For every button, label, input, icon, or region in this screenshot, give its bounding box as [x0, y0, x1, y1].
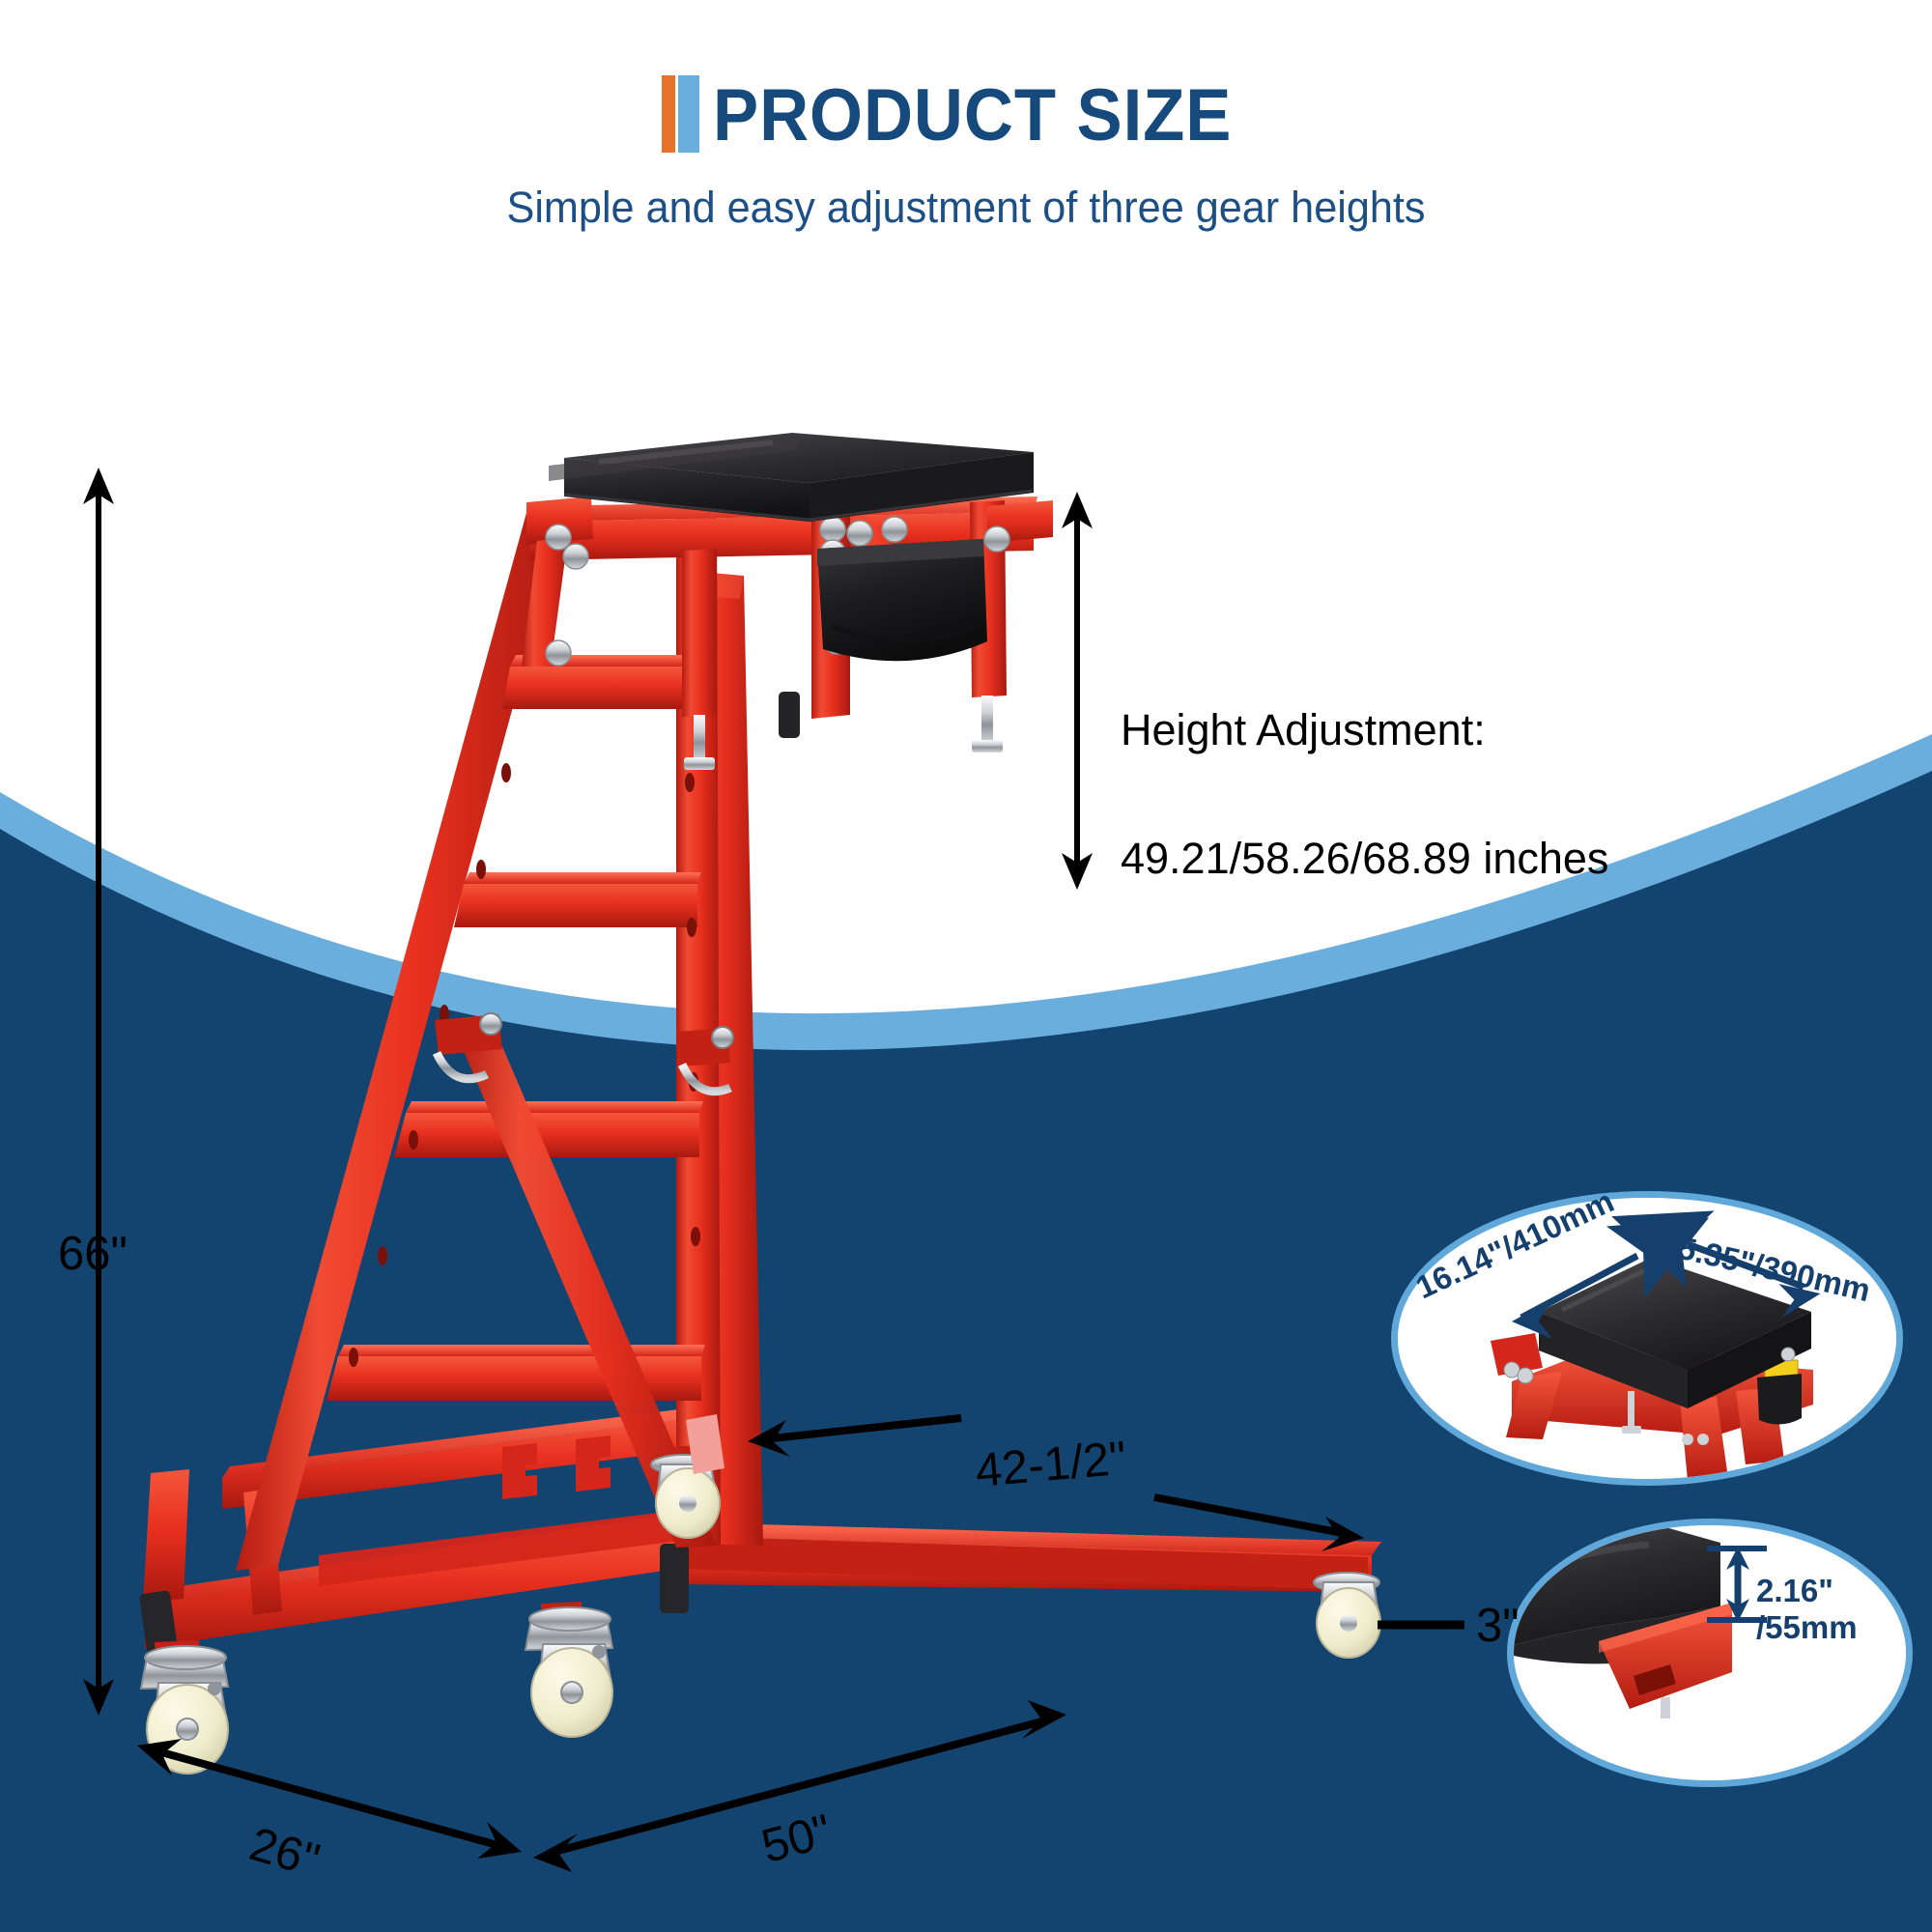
dim-label-66: 66" — [58, 1227, 128, 1281]
height-adjustment-title: Height Adjustment: — [1121, 701, 1608, 760]
dimension-arrows — [0, 0, 1932, 1932]
infographic-canvas: PRODUCT SIZE Simple and easy adjustment … — [0, 0, 1932, 1932]
height-adjustment-annotation: Height Adjustment: 49.21/58.26/68.89 inc… — [1121, 642, 1608, 948]
dim-line-26 — [137, 1739, 522, 1859]
inset-label-pad-thickness: 2.16" /55mm — [1756, 1573, 1858, 1646]
dim-line-height-adjustment — [1062, 492, 1093, 890]
dim-label-3: 3" — [1476, 1599, 1520, 1653]
dim-line-66 — [83, 468, 114, 1716]
height-adjustment-values: 49.21/58.26/68.89 inches — [1121, 830, 1608, 889]
